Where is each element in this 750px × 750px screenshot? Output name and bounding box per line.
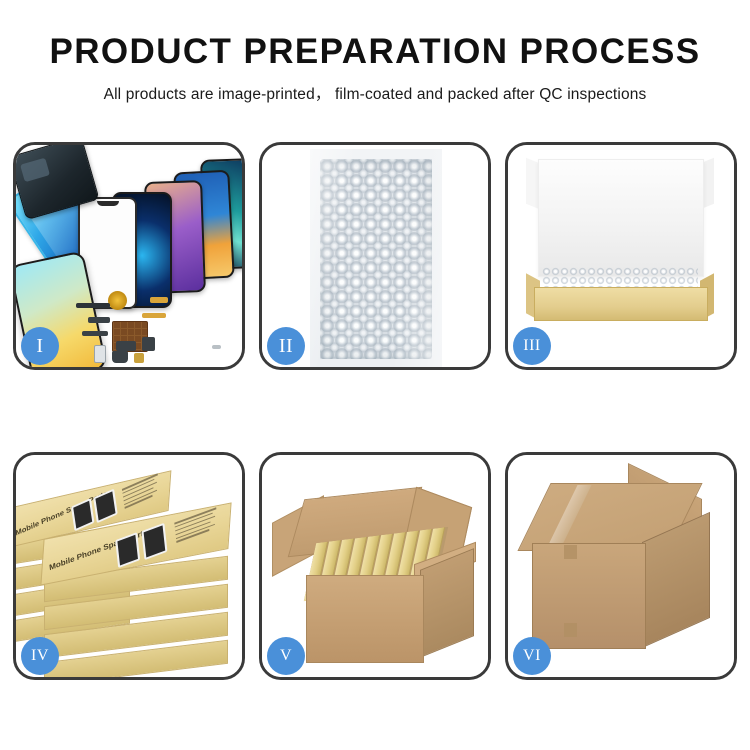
step-panel-3: III: [505, 142, 737, 370]
taptic-engine-icon: [112, 351, 128, 363]
step-panel-1: 08:08: [13, 142, 245, 370]
connector-part-icon: [88, 317, 110, 323]
speaker-part-icon: [76, 303, 110, 308]
tape-tab-icon: [564, 623, 577, 637]
step-badge-1: I: [21, 327, 59, 365]
screw-icon: [212, 345, 221, 349]
step-badge-2: II: [267, 327, 305, 365]
carton-front-icon: [306, 575, 424, 663]
step-badge-3: III: [513, 327, 551, 365]
step-panel-6: VI: [505, 452, 737, 680]
step-badge-5: V: [267, 637, 305, 675]
process-step-grid: 08:08: [13, 142, 737, 680]
flex-cable-icon: [142, 313, 166, 318]
page-subtitle: All products are image-printed， film-coa…: [0, 82, 750, 104]
header: PRODUCT PREPARATION PROCESS All products…: [0, 0, 750, 104]
camera-module-icon: [116, 341, 136, 351]
tape-tab-icon: [564, 545, 577, 559]
sim-tray-icon: [94, 345, 106, 363]
box-spec-lines: [122, 472, 165, 512]
phone-screen-print-icon: [115, 532, 140, 568]
flex-cable-icon: [150, 297, 168, 303]
box-front-icon: [534, 287, 708, 321]
battery-icon: [142, 337, 155, 351]
step-panel-2: II: [259, 142, 491, 370]
box-spec-lines: [174, 506, 222, 545]
screw-icon: [134, 353, 144, 363]
step-badge-4: IV: [21, 637, 59, 675]
step-panel-5: V: [259, 452, 491, 680]
step-panel-4: Mobile Phone Spare Parts Mobile Phone Sp…: [13, 452, 245, 680]
bag-sheen: [310, 149, 442, 367]
step-badge-6: VI: [513, 637, 551, 675]
copper-coil-icon: [108, 291, 127, 310]
page-title: PRODUCT PREPARATION PROCESS: [0, 34, 750, 69]
connector-part-icon: [82, 331, 108, 336]
carton-front-icon: [532, 543, 646, 649]
box-lid-icon: [538, 159, 704, 277]
product-preparation-infographic: PRODUCT PREPARATION PROCESS All products…: [0, 0, 750, 750]
